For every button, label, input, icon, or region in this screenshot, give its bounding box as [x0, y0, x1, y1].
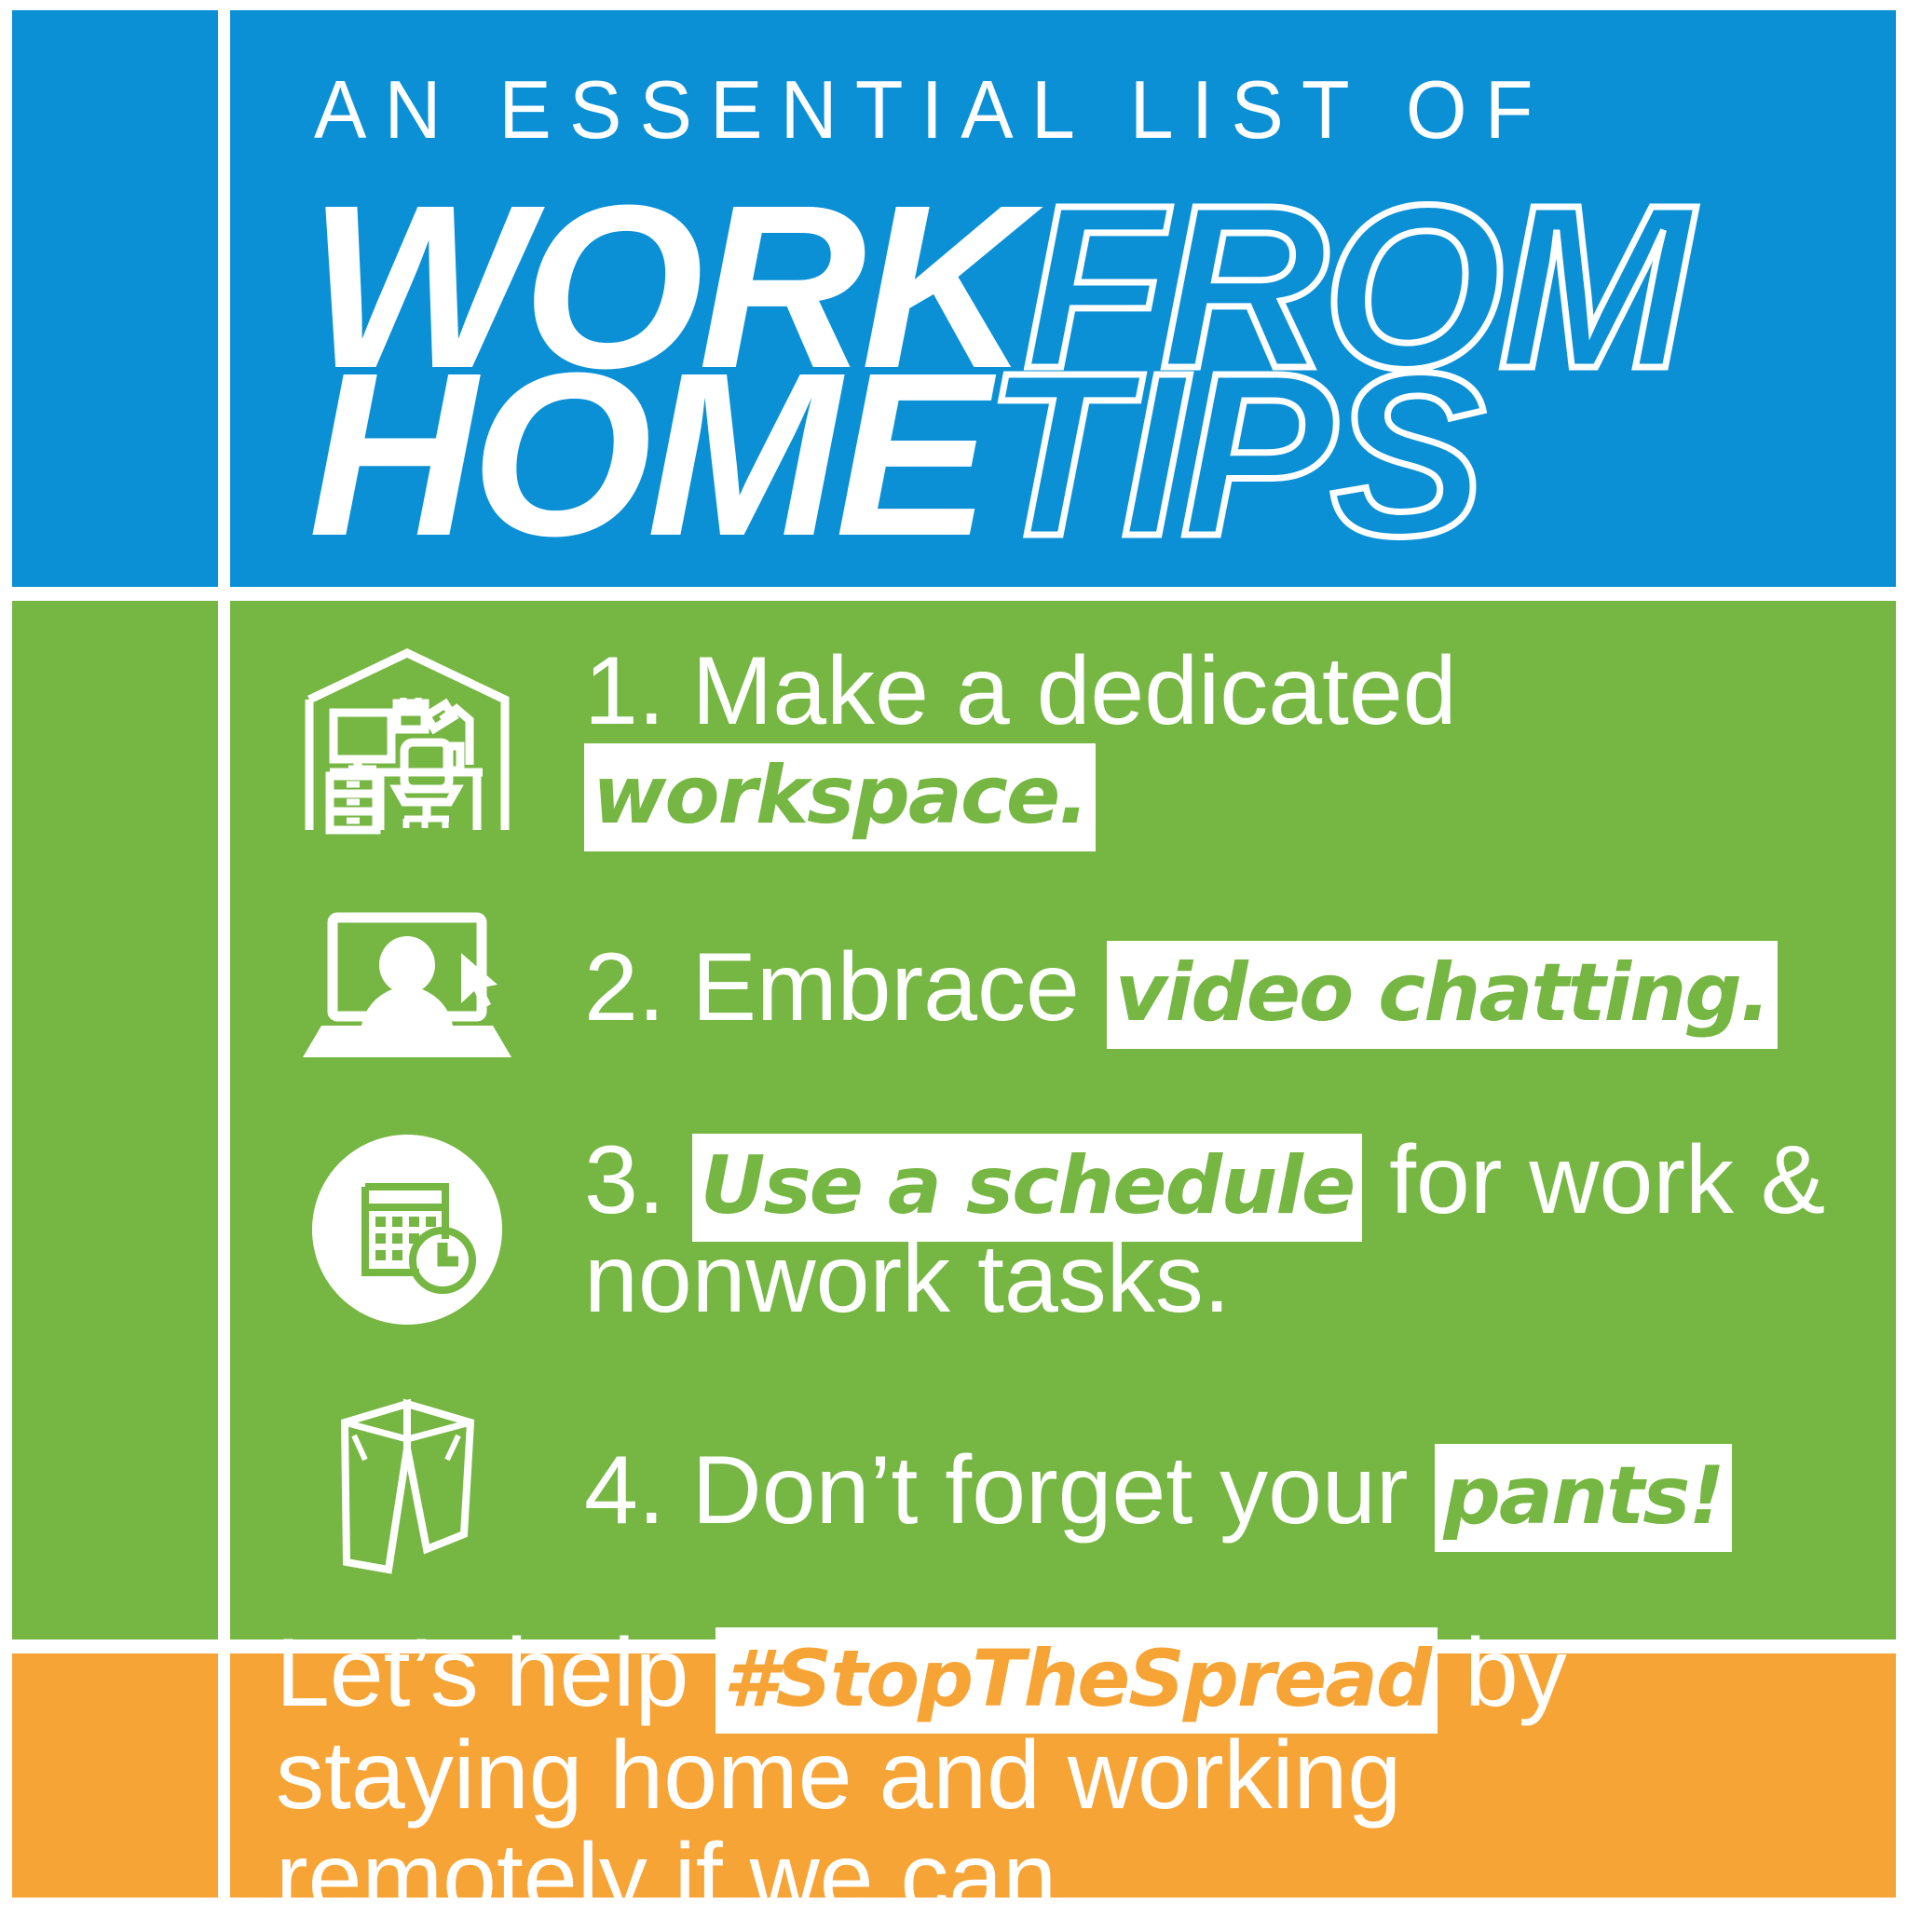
tip-1-text-cell: 1. Make a dedicated workspace. [584, 642, 1896, 839]
footer-text-before: Let’s help [276, 1619, 715, 1727]
tip-3-text-before: 3. [584, 1126, 692, 1234]
tip-4-highlight: pants! [1435, 1444, 1731, 1552]
footer-left-accent-block [12, 1653, 218, 1898]
tip-4-text-cell: 4. Don’t forget your pants! [584, 1441, 1896, 1540]
header-left-accent-block [12, 10, 218, 587]
footer-hashtag: #StopTheSpread [715, 1627, 1438, 1734]
calendar-clock-icon [312, 1135, 502, 1325]
tip-4-text-before: 4. Don’t forget your [584, 1436, 1435, 1544]
tip-2-text-before: 2. Embrace [584, 933, 1107, 1041]
title-word-home: HOME [308, 324, 985, 584]
tip-3-icon-cell [230, 1135, 584, 1325]
header-kicker: AN ESSENTIAL LIST OF [314, 69, 1551, 151]
tip-3-text-cell: 3. Use a schedule for work & nonwork tas… [584, 1131, 1896, 1328]
list-item: 2. Embrace video chatting. [230, 871, 1896, 1104]
list-item: 4. Don’t forget your pants! [230, 1355, 1896, 1626]
home-office-desk-icon [300, 646, 514, 837]
tips-list: 1. Make a dedicated workspace. 2. [230, 601, 1896, 1639]
header-title-line-2: HOMETIPS [308, 338, 1480, 571]
body-left-accent-block [12, 601, 218, 1639]
tip-4-icon-cell [230, 1393, 584, 1588]
list-item: 3. Use a schedule for work & nonwork tas… [230, 1095, 1896, 1365]
list-item: 1. Make a dedicated workspace. [230, 601, 1896, 880]
tip-1-icon-cell [230, 646, 584, 837]
tip-2-text: 2. Embrace video chatting. [584, 938, 1896, 1037]
footer-content: Let’s help #StopTheSpread by staying hom… [230, 1653, 1896, 1898]
laptop-video-chat-icon [297, 910, 517, 1065]
infographic-poster: AN ESSENTIAL LIST OF WORKFROM HOMETIPS [0, 0, 1908, 1908]
tip-2-icon-cell [230, 910, 584, 1065]
tip-4-text: 4. Don’t forget your pants! [584, 1441, 1896, 1540]
pants-icon [319, 1393, 496, 1588]
tip-2-text-cell: 2. Embrace video chatting. [584, 938, 1896, 1037]
tip-1-highlight: workspace. [584, 743, 1096, 851]
tip-2-highlight: video chatting. [1107, 941, 1778, 1049]
tip-1-text-before: 1. Make a dedicated [584, 637, 1484, 745]
tip-3-text: 3. Use a schedule for work & nonwork tas… [584, 1131, 1896, 1328]
tip-1-text: 1. Make a dedicated workspace. [584, 642, 1896, 839]
footer-text: Let’s help #StopTheSpread by staying hom… [276, 1622, 1580, 1930]
header-content: AN ESSENTIAL LIST OF WORKFROM HOMETIPS [230, 10, 1896, 587]
title-word-tips: TIPS [985, 324, 1480, 584]
